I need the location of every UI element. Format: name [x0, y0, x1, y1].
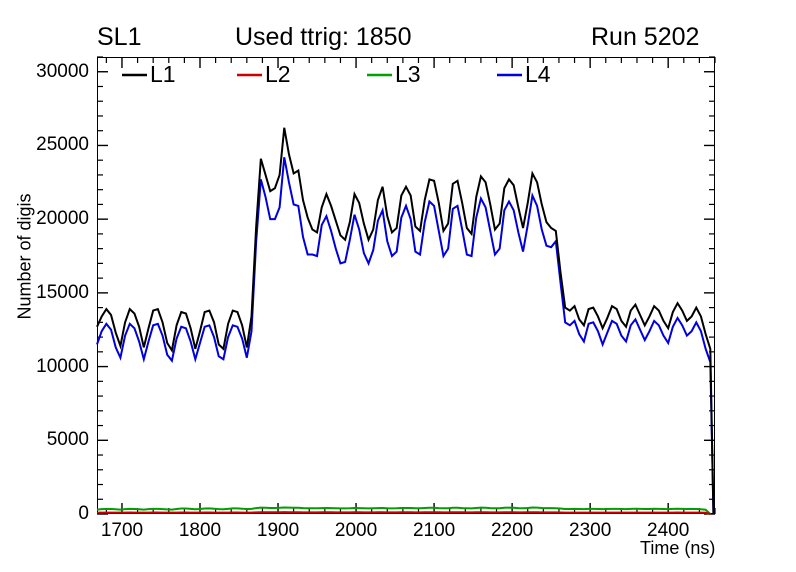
- legend-label-l3: L3: [395, 63, 421, 86]
- y-tick-label: 25000: [5, 135, 89, 154]
- x-tick-label: 2000: [311, 521, 401, 540]
- x-tick-label: 2400: [623, 521, 713, 540]
- chart-canvas: SL1 Used ttrig: 1850 Run 5202 Number of …: [0, 0, 796, 572]
- x-tick-label: 2200: [467, 521, 557, 540]
- legend-label-l4: L4: [525, 63, 551, 86]
- series-line-l4: [97, 157, 713, 514]
- legend-label-l2: L2: [265, 63, 291, 86]
- legend-label-l1: L1: [150, 63, 176, 86]
- x-tick-label: 1900: [233, 521, 323, 540]
- series-line-l1: [97, 128, 713, 514]
- y-tick-label: 20000: [5, 209, 89, 228]
- data-series: [97, 128, 713, 514]
- y-tick-label: 30000: [5, 62, 89, 81]
- y-tick-label: 5000: [5, 430, 89, 449]
- x-tick-label: 2300: [545, 521, 635, 540]
- x-tick-label: 2100: [389, 521, 479, 540]
- x-tick-label: 1700: [77, 521, 167, 540]
- y-tick-label: 15000: [5, 283, 89, 302]
- y-tick-label: 10000: [5, 357, 89, 376]
- series-line-l2: [97, 512, 710, 514]
- axis-ticks: [97, 57, 715, 514]
- x-tick-label: 1800: [155, 521, 245, 540]
